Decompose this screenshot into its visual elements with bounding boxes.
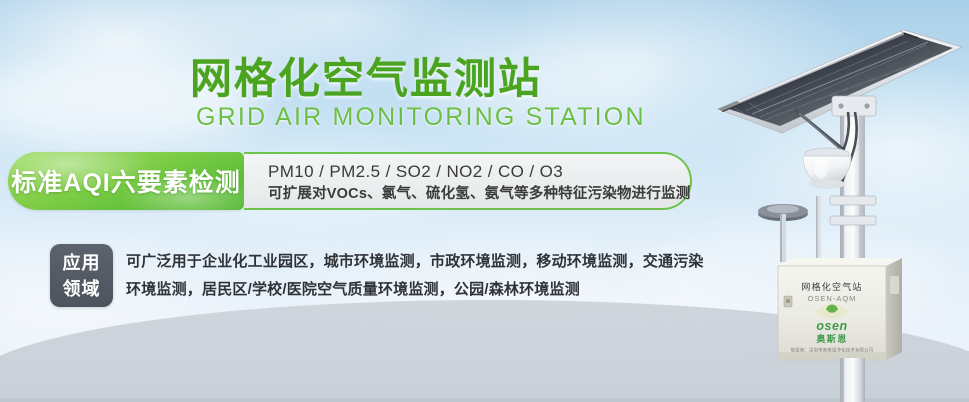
- brand-zh: 奥斯恩: [815, 333, 847, 344]
- monitor-box: 网格化空气站 OSEN-AQM osen 奥斯恩 制造商：深圳市奥斯恩净化技术有…: [778, 258, 902, 360]
- aqi-feature-strip: 标准AQI六要素检测 PM10 / PM2.5 / SO2 / NO2 / CO…: [8, 152, 672, 210]
- device-label-model: OSEN-AQM: [808, 294, 857, 303]
- application-badge-line1: 应用: [63, 250, 101, 276]
- device-label-zh: 网格化空气站: [801, 281, 862, 292]
- aqi-parameters-line: PM10 / PM2.5 / SO2 / NO2 / CO / O3: [268, 161, 690, 183]
- page-title-zh: 网格化空气监测站: [190, 45, 542, 106]
- aqi-badge-label: 标准AQI六要素检测: [11, 163, 240, 199]
- dome-camera: [803, 148, 851, 189]
- application-badge: 应用 领域: [50, 244, 113, 307]
- brand-company: 制造商：深圳市奥斯恩净化技术有限公司: [791, 347, 874, 354]
- brand-latin: osen: [816, 319, 847, 333]
- aqi-extension-line: 可扩展对VOCs、氯气、硫化氢、氨气等多种特征污染物进行监测: [268, 184, 690, 205]
- aqi-badge: 标准AQI六要素检测: [8, 152, 244, 210]
- application-badge-line2: 领域: [63, 276, 101, 302]
- monitoring-station-illustration: 网格化空气站 OSEN-AQM osen 奥斯恩 制造商：深圳市奥斯恩净化技术有…: [690, 0, 969, 402]
- rain-sensor: [758, 204, 808, 262]
- box-latch: [784, 296, 792, 307]
- mast-pole-lower: [840, 358, 865, 402]
- application-text-line1: 可广泛用于企业化工业园区，城市环境监测，市政环境监测，移动环境监测，交通污染: [126, 248, 704, 276]
- application-text-line2: 环境监测，居民区/学校/医院空气质量环境监测，公园/森林环境监测: [126, 276, 704, 304]
- application-block: 应用 领域 可广泛用于企业化工业园区，城市环境监测，市政环境监测，移动环境监测，…: [50, 244, 704, 307]
- application-text: 可广泛用于企业化工业园区，城市环境监测，市政环境监测，移动环境监测，交通污染 环…: [126, 244, 704, 304]
- aqi-panel: PM10 / PM2.5 / SO2 / NO2 / CO / O3 可扩展对V…: [244, 152, 692, 210]
- auxiliary-sensor-mast: [816, 196, 821, 262]
- page-title-en: GRID AIR MONITORING STATION: [196, 103, 646, 132]
- banner-root: 网格化空气站 OSEN-AQM osen 奥斯恩 制造商：深圳市奥斯恩净化技术有…: [0, 0, 969, 402]
